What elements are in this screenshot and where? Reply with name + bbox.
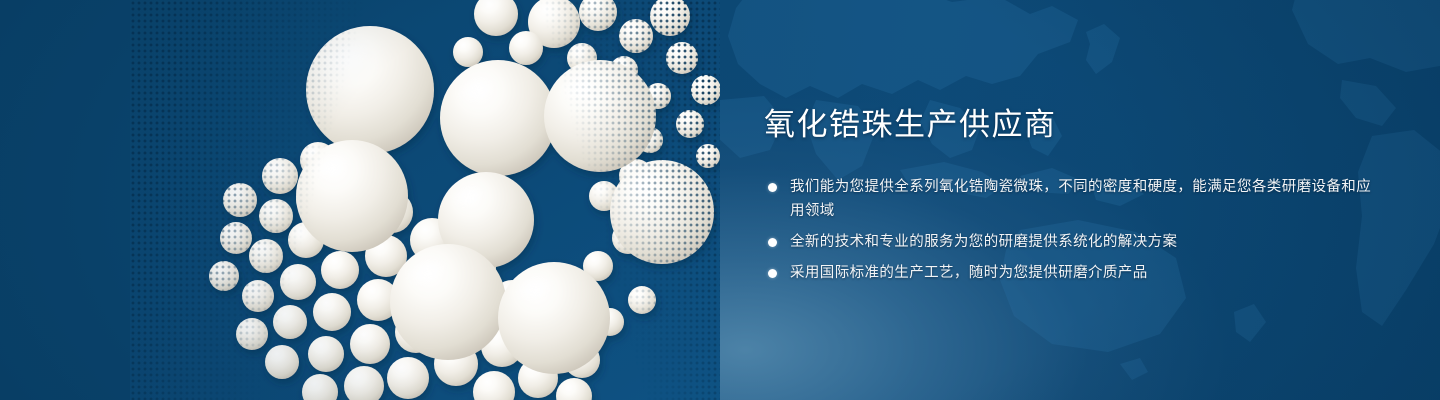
zirconia-beads-photo (130, 0, 720, 400)
list-item: 采用国际标准的生产工艺，随时为您提供研磨介质产品 (764, 261, 1384, 285)
list-item: 全新的技术和专业的服务为您的研磨提供系统化的解决方案 (764, 230, 1384, 254)
list-item-label: 全新的技术和专业的服务为您的研磨提供系统化的解决方案 (790, 230, 1384, 254)
bullet-dot-icon (768, 238, 777, 247)
page-title: 氧化锆珠生产供应商 (764, 105, 1384, 145)
feature-bullet-list: 我们能为您提供全系列氧化锆陶瓷微珠，不同的密度和硬度，能满足您各类研磨设备和应用… (764, 175, 1384, 285)
list-item-label: 采用国际标准的生产工艺，随时为您提供研磨介质产品 (790, 261, 1384, 285)
list-item-label: 我们能为您提供全系列氧化锆陶瓷微珠，不同的密度和硬度，能满足您各类研磨设备和应用… (790, 175, 1384, 223)
bullet-dot-icon (768, 269, 777, 278)
hero-banner: 氧化锆珠生产供应商 我们能为您提供全系列氧化锆陶瓷微珠，不同的密度和硬度，能满足… (0, 0, 1440, 400)
bullet-dot-icon (768, 183, 777, 192)
list-item: 我们能为您提供全系列氧化锆陶瓷微珠，不同的密度和硬度，能满足您各类研磨设备和应用… (764, 175, 1384, 223)
banner-copy: 氧化锆珠生产供应商 我们能为您提供全系列氧化锆陶瓷微珠，不同的密度和硬度，能满足… (764, 105, 1384, 285)
